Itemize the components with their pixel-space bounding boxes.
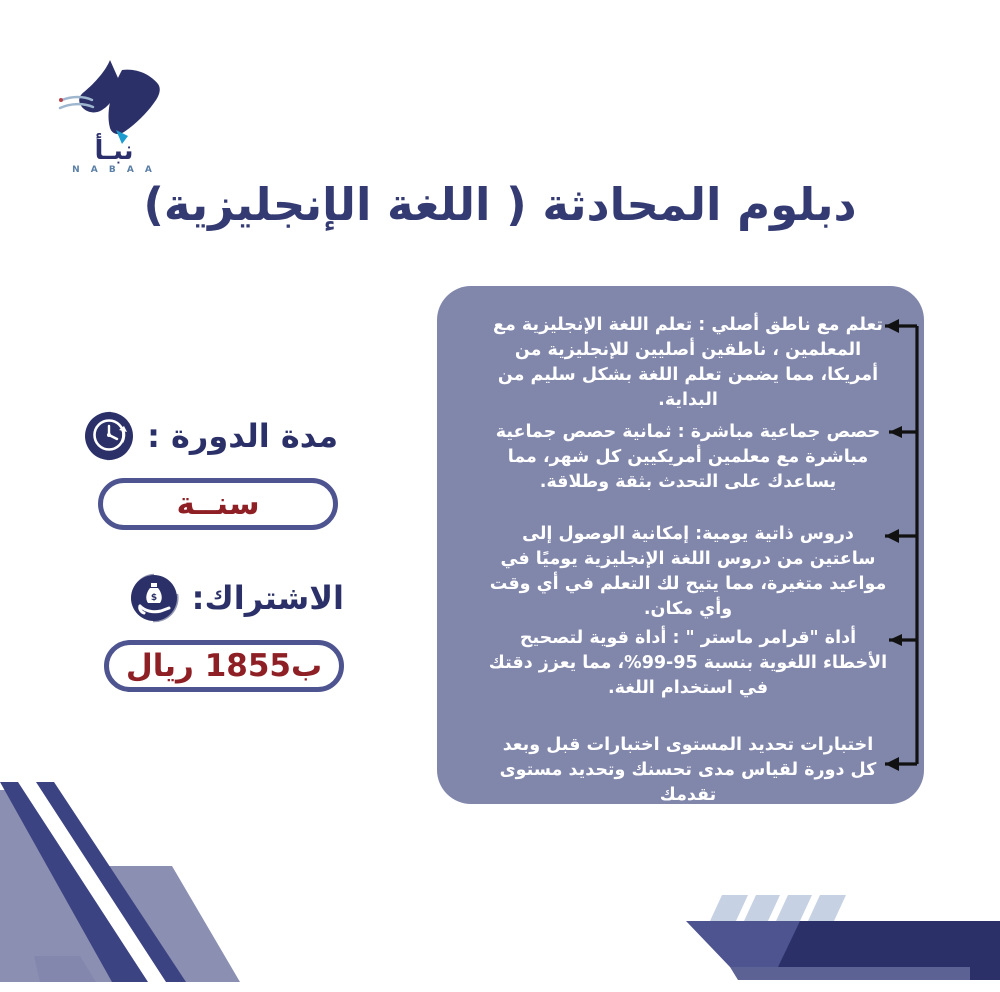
page-title: دبلوم المحادثة ( اللغة الإنجليزية) bbox=[0, 178, 1000, 231]
money-hand-icon: $ bbox=[126, 570, 182, 626]
feature-item: اختبارات تحديد المستوى اختبارات قبل وبعد… bbox=[488, 733, 888, 808]
feature-item: تعلم مع ناطق أصلي : تعلم اللغة الإنجليزي… bbox=[488, 313, 888, 412]
clock-icon bbox=[81, 408, 137, 464]
price-value-pill[interactable]: ب1855 ريال bbox=[104, 640, 344, 692]
duration-label: مدة الدورة : bbox=[147, 417, 338, 455]
brand-name-arabic: نبـأ bbox=[44, 138, 184, 164]
brand-name-latin: N A B A A bbox=[44, 166, 184, 175]
feature-item: حصص جماعية مباشرة : ثمانية حصص جماعية مب… bbox=[488, 420, 888, 495]
price-label: الاشتراك: bbox=[192, 579, 344, 617]
arrow-banner-decoration bbox=[680, 877, 1000, 992]
feature-item: أداة "قرامر ماستر " : أداة قوية لتصحيح ا… bbox=[488, 626, 888, 701]
poster-canvas: نبـأ N A B A A دبلوم المحادثة ( اللغة ال… bbox=[0, 0, 1000, 992]
duration-header: مدة الدورة : bbox=[98, 404, 338, 468]
price-header: $ الاشتراك: bbox=[104, 566, 344, 630]
duration-value-pill[interactable]: سنــة bbox=[98, 478, 338, 530]
price-group: $ الاشتراك: ب1855 ريال bbox=[104, 566, 344, 692]
feature-item: دروس ذاتية يومية: إمكانية الوصول إلى ساع… bbox=[488, 522, 888, 621]
svg-text:$: $ bbox=[151, 593, 157, 603]
brand-logo: نبـأ N A B A A bbox=[44, 52, 184, 192]
open-book-logo-icon bbox=[44, 52, 184, 148]
duration-group: مدة الدورة : سنــة bbox=[98, 404, 338, 530]
layered-triangles-decoration bbox=[0, 782, 240, 992]
features-panel: تعلم مع ناطق أصلي : تعلم اللغة الإنجليزي… bbox=[437, 286, 924, 804]
